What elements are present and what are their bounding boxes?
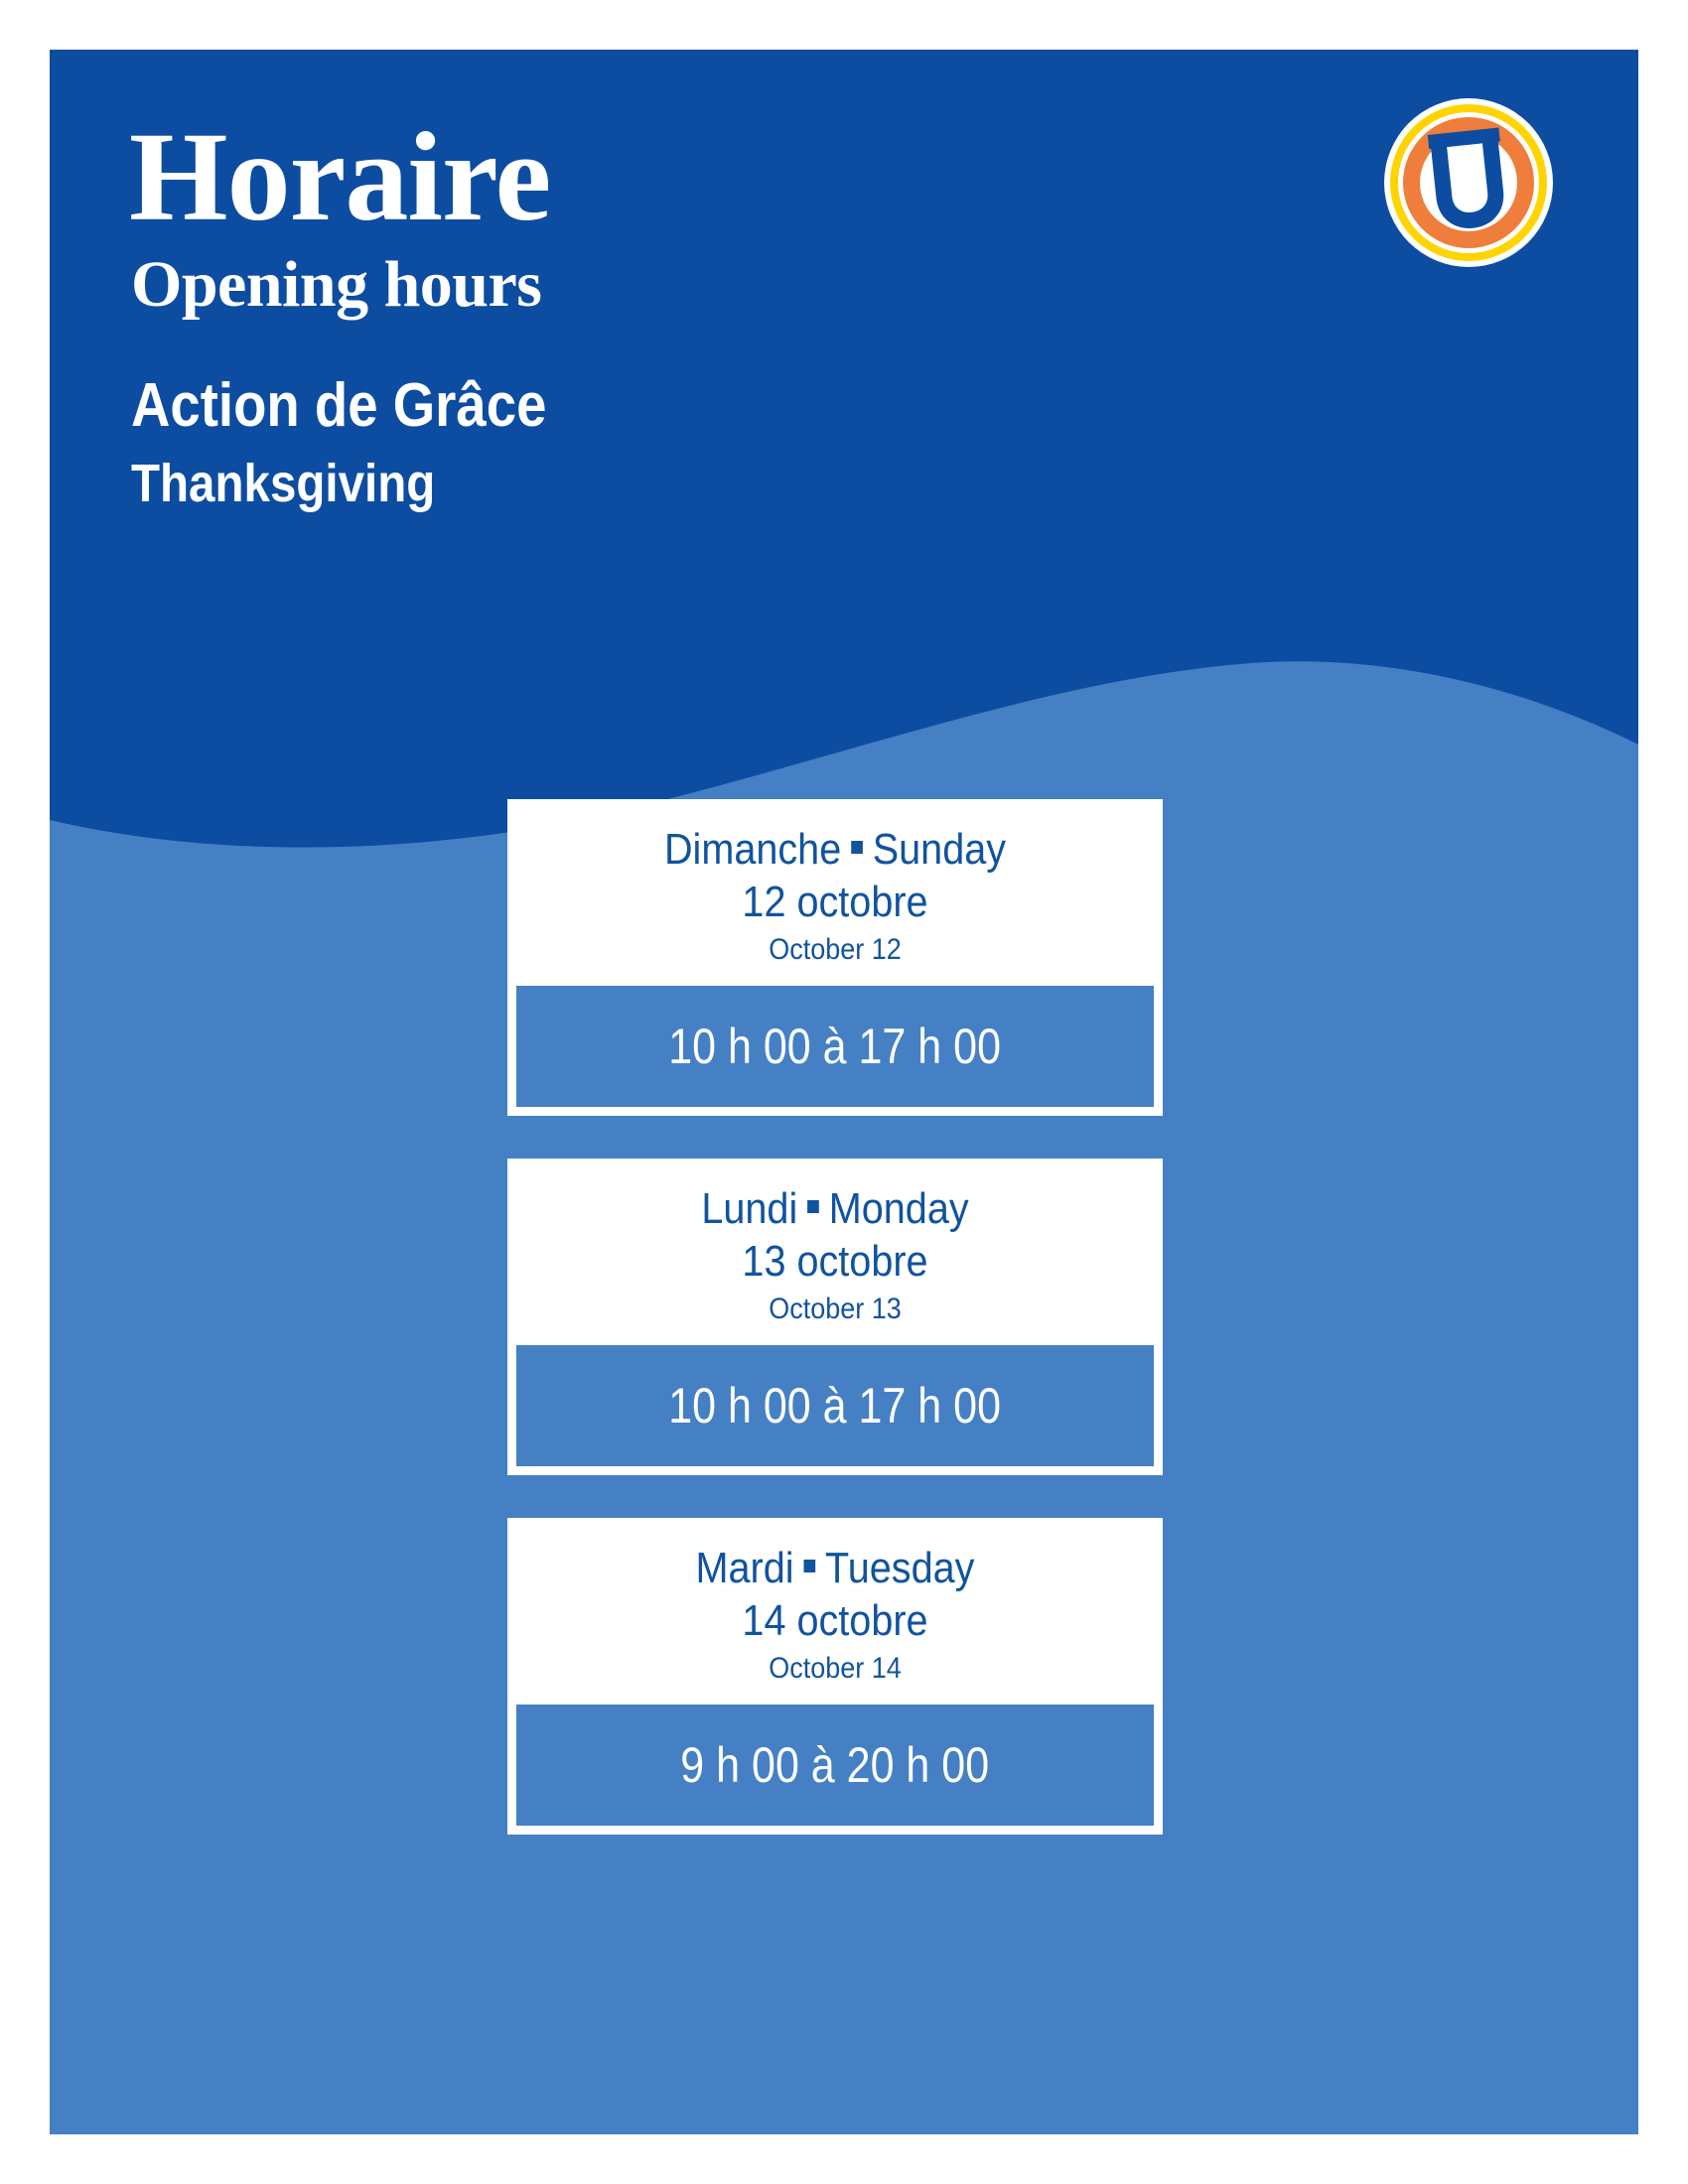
day-name-fr: Mardi <box>696 1544 794 1592</box>
date-en: October 13 <box>558 1292 1112 1327</box>
schedule-card-hours-bar: 9 h 00 à 20 h 00 <box>516 1705 1154 1826</box>
day-name-fr: Lundi <box>701 1184 797 1233</box>
day-names-line: MardiTuesday <box>558 1544 1112 1593</box>
schedule-card-list: DimancheSunday 12 octobre October 12 10 … <box>507 799 1163 1877</box>
schedule-card-hours-frame: 9 h 00 à 20 h 00 <box>507 1705 1163 1835</box>
day-names-line: LundiMonday <box>558 1184 1112 1234</box>
schedule-card: LundiMonday 13 octobre October 13 10 h 0… <box>507 1159 1163 1475</box>
uniprix-u-logo <box>1383 97 1554 268</box>
opening-hours-text: 10 h 00 à 17 h 00 <box>669 1018 1002 1075</box>
schedule-card-header: LundiMonday 13 octobre October 13 <box>507 1159 1163 1345</box>
day-name-en: Sunday <box>873 825 1006 874</box>
bullet-separator-icon <box>803 1560 815 1572</box>
date-fr: 12 octobre <box>558 877 1112 928</box>
date-fr: 13 octobre <box>558 1236 1112 1288</box>
poster-header: Horaire Opening hours Action de Grâce Th… <box>129 113 1221 512</box>
page-title-en: Opening hours <box>131 248 1221 322</box>
schedule-card-header: MardiTuesday 14 octobre October 14 <box>507 1518 1163 1705</box>
opening-hours-text: 10 h 00 à 17 h 00 <box>669 1377 1002 1434</box>
page-title-fr: Horaire <box>129 113 1221 240</box>
schedule-card-hours-frame: 10 h 00 à 17 h 00 <box>507 986 1163 1116</box>
day-name-fr: Dimanche <box>664 825 841 874</box>
bullet-separator-icon <box>807 1200 819 1213</box>
date-fr: 14 octobre <box>558 1595 1112 1647</box>
opening-hours-text: 9 h 00 à 20 h 00 <box>681 1736 990 1794</box>
schedule-card-hours-bar: 10 h 00 à 17 h 00 <box>516 1345 1154 1466</box>
day-name-en: Monday <box>829 1184 969 1233</box>
occasion-title-fr: Action de Grâce <box>131 373 1090 438</box>
bullet-separator-icon <box>851 841 863 854</box>
opening-hours-poster: Horaire Opening hours Action de Grâce Th… <box>50 50 1638 2134</box>
schedule-card-hours-bar: 10 h 00 à 17 h 00 <box>516 986 1154 1107</box>
schedule-card: MardiTuesday 14 octobre October 14 9 h 0… <box>507 1518 1163 1835</box>
date-en: October 14 <box>558 1651 1112 1687</box>
occasion-title-en: Thanksgiving <box>131 456 1090 512</box>
day-names-line: DimancheSunday <box>558 825 1112 875</box>
day-name-en: Tuesday <box>825 1544 974 1592</box>
date-en: October 12 <box>558 932 1112 968</box>
schedule-card-header: DimancheSunday 12 octobre October 12 <box>507 799 1163 986</box>
schedule-card: DimancheSunday 12 octobre October 12 10 … <box>507 799 1163 1116</box>
schedule-card-hours-frame: 10 h 00 à 17 h 00 <box>507 1345 1163 1475</box>
